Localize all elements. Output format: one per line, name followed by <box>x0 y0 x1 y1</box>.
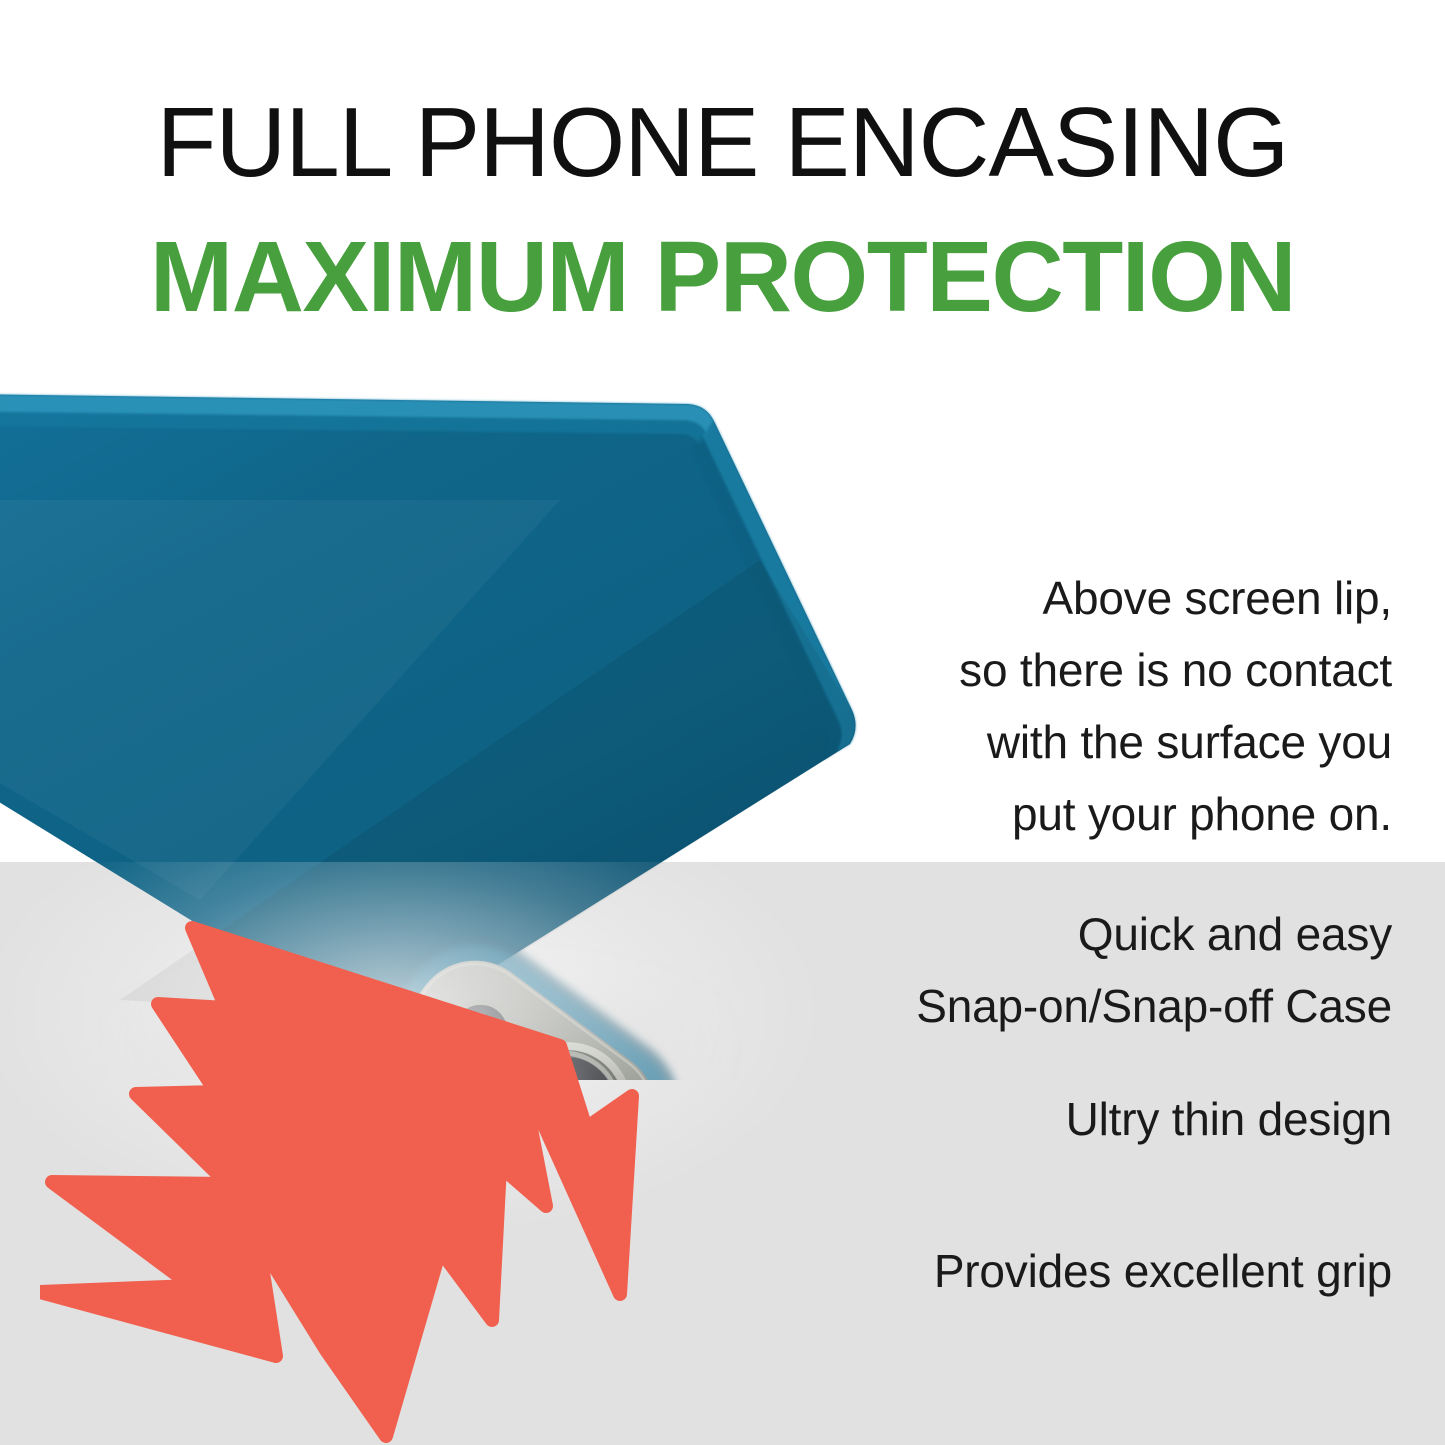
impact-lightning-bolt-icon <box>40 920 680 1445</box>
product-infographic-canvas: Above screen lip, so there is no contact… <box>0 0 1445 1445</box>
headline-primary: FULL PHONE ENCASING <box>0 92 1445 192</box>
feature-text-grip: Provides excellent grip <box>934 1235 1392 1307</box>
feature-text-screen-lip: Above screen lip, so there is no contact… <box>959 562 1392 850</box>
feature-text-thin-design: Ultry thin design <box>1066 1083 1392 1155</box>
feature-text-snap-case: Quick and easy Snap-on/Snap-off Case <box>916 898 1392 1042</box>
headline-secondary: MAXIMUM PROTECTION <box>0 226 1445 328</box>
